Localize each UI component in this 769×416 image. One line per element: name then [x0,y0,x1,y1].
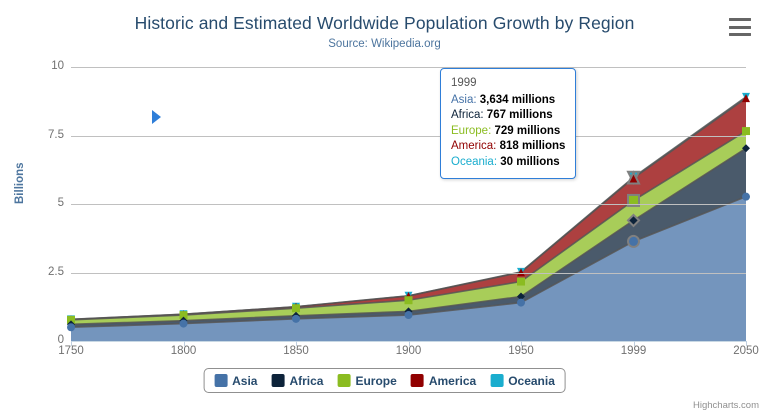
marker-europe-1850[interactable] [292,304,300,312]
marker-europe-2050[interactable] [742,127,750,135]
hamburger-bar-2 [729,26,751,29]
x-axis-tick-label: 2050 [733,345,759,357]
marker-asia-1850[interactable] [292,315,300,323]
x-axis-tick [296,341,297,346]
tooltip-series-value: 818 millions [500,140,566,152]
marker-asia-1900[interactable] [405,311,413,319]
x-axis-tick [521,341,522,346]
gridline [71,273,746,274]
tooltip-series-value: 729 millions [494,125,560,137]
x-axis-tick [71,341,72,346]
tooltip-series-name: Africa: [451,109,487,121]
legend-item-oceania[interactable]: Oceania [490,374,555,388]
tooltip-series-name: America: [451,140,500,152]
marker-asia-1800[interactable] [180,320,188,328]
tooltip-header: 1999 [451,76,565,93]
x-axis-tick [184,341,185,346]
y-axis-tick-label: 2.5 [48,266,64,278]
tooltip-series-value: 3,634 millions [480,94,555,106]
x-axis-tick [409,341,410,346]
legend-swatch-icon [337,374,350,387]
legend-label: America [429,374,476,388]
marker-europe-1950[interactable] [517,278,525,286]
chart-subtitle: Source: Wikipedia.org [0,38,769,50]
x-axis-tick-label: 1900 [396,345,422,357]
x-axis-tick-label: 1850 [283,345,309,357]
tooltip-series-value: 30 millions [500,156,559,168]
plot-area [71,67,746,341]
tooltip-series-name: Europe: [451,125,494,137]
tooltip-rows: Asia: 3,634 millionsAfrica: 767 millions… [451,93,565,171]
hamburger-bar-1 [729,18,751,21]
x-axis-tick-label: 1750 [58,345,84,357]
tooltip-row-america: America: 818 millions [451,139,565,155]
legend: AsiaAfricaEuropeAmericaOceania [203,368,566,393]
marker-asia-1999[interactable] [628,236,639,247]
chart-title: Historic and Estimated Worldwide Populat… [0,13,769,34]
gridline [71,204,746,205]
y-axis-labels: 02.557.510 [24,67,64,341]
x-axis-labels: 1750180018501900195019992050 [71,345,746,363]
legend-item-america[interactable]: America [411,374,476,388]
gridline [71,136,746,137]
legend-label: Asia [232,374,257,388]
gridline [71,67,746,68]
tooltip-series-value: 767 millions [487,109,553,121]
y-axis-tick-label: 10 [51,60,64,72]
legend-item-europe[interactable]: Europe [337,374,396,388]
tooltip-row-africa: Africa: 767 millions [451,108,565,124]
legend-swatch-icon [490,374,503,387]
legend-item-asia[interactable]: Asia [214,374,257,388]
tooltip-series-name: Asia: [451,94,480,106]
legend-swatch-icon [214,374,227,387]
tooltip-row-oceania: Oceania: 30 millions [451,155,565,171]
marker-asia-2050[interactable] [742,193,750,201]
tooltip-row-europe: Europe: 729 millions [451,124,565,140]
y-axis-tick-label: 5 [58,197,64,209]
hamburger-bar-3 [729,33,751,36]
x-axis-tick [634,341,635,346]
legend-label: Oceania [508,374,555,388]
x-axis-tick-label: 1950 [508,345,534,357]
legend-swatch-icon [271,374,284,387]
legend-item-africa[interactable]: Africa [271,374,323,388]
y-axis-tick-label: 7.5 [48,129,64,141]
x-axis-tick-label: 1999 [621,345,647,357]
hamburger-menu-icon[interactable] [729,18,751,36]
highcharts-container: Historic and Estimated Worldwide Populat… [0,0,769,416]
legend-label: Africa [289,374,323,388]
tooltip-series-name: Oceania: [451,156,500,168]
x-axis-tick [746,341,747,346]
tooltip: 1999 Asia: 3,634 millionsAfrica: 767 mil… [440,68,576,179]
marker-asia-1950[interactable] [517,299,525,307]
credits-link[interactable]: Highcharts.com [693,400,759,411]
legend-swatch-icon [411,374,424,387]
tooltip-pointer-icon [152,110,161,124]
marker-europe-1900[interactable] [405,296,413,304]
x-axis-tick-label: 1800 [171,345,197,357]
legend-label: Europe [355,374,396,388]
marker-asia-1750[interactable] [67,323,75,331]
tooltip-row-asia: Asia: 3,634 millions [451,93,565,109]
